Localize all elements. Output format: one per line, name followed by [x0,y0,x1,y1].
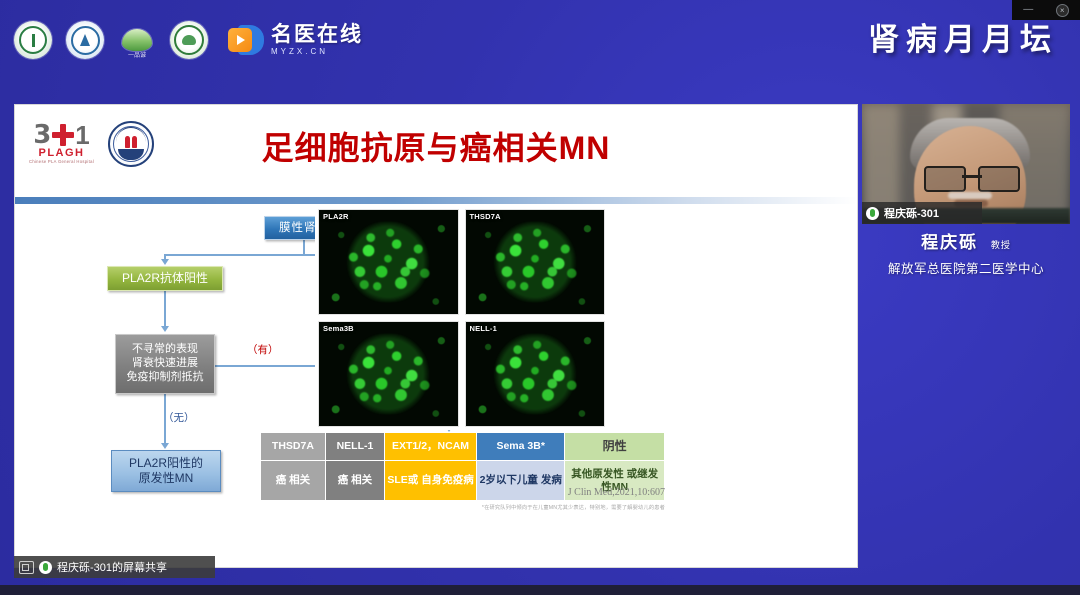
if-panel-nell1: NELL-1 [465,321,606,427]
label-has: （有） [247,342,279,357]
flow-box-pla2r-positive: PLA2R抗体阳性 [107,266,223,291]
cell-sema3b-line1: 2岁以下儿童 [480,474,538,486]
table-header-sema3b: Sema 3B* [477,433,565,461]
if-panel-pla2r-label: PLA2R [323,212,349,221]
cell-ext12-line2: 自身免疫病 [421,474,474,486]
brand-name: 名医在线 [271,24,363,45]
label-none: （无） [163,410,195,425]
title-divider [15,197,857,204]
flow-box-pla2r-positive-label: PLA2R抗体阳性 [122,271,208,286]
presenter-info: 程庆砾 教授 解放军总医院第二医学中心 [862,228,1070,277]
sponsor-logo-3-label: 一品诚 [128,53,146,59]
brand-domain: MYZX.CN [271,47,363,56]
cell-ext12-line1: SLE或 [387,474,418,486]
table-header-nell1: NELL-1 [325,433,384,461]
sponsor-logo-3-icon: 一品诚 [118,21,156,59]
flow-box-primary-mn: PLA2R阳性的 原发性MN [111,450,221,492]
cell-thsd7a-line1: 癌 [276,474,287,486]
atypical-line-1: 不寻常的表现 [132,343,198,357]
if-panel-nell1-label: NELL-1 [470,324,497,333]
microphone-icon [866,207,879,220]
if-panel-pla2r: PLA2R [318,209,459,315]
primary-mn-line-1: PLA2R阳性的 [129,456,203,471]
slide-header: 3 1 PLAGH Chinese PLA General Hospital 足… [15,105,857,197]
presenter-card: 程庆砾-301 程庆砾 教授 解放军总医院第二医学中心 [862,104,1070,309]
primary-mn-line-2: 原发性MN [139,471,194,486]
if-panel-thsd7a-label: THSD7A [470,212,501,221]
presenter-name-chip: 程庆砾-301 [862,202,982,224]
bottom-strip [0,585,1080,595]
cell-nell1-line1: 癌 [338,474,349,486]
connector-root-down [303,240,305,254]
immunofluorescence-panel-grid: PLA2R THSD7A Sema3B NELL-1 [315,206,608,430]
table-header-negative: 阴性 [565,433,665,461]
cell-nell1-line2: 相关 [351,474,372,486]
sponsor-logo-4-icon [170,21,208,59]
arrow-to-pla2r-positive [161,259,169,265]
brand-logo: 名医在线 MYZX.CN [228,24,363,56]
sponsor-logo-2-icon [66,21,104,59]
atypical-line-3: 免疫抑制剂抵抗 [127,371,204,385]
table-header-ext12-ncam: EXT1/2，NCAM [385,433,477,461]
if-panel-sema3b-label: Sema3B [323,324,354,333]
play-icon [228,25,264,55]
flow-box-atypical-features: 不寻常的表现 肾衰快速进展 免疫抑制剂抵抗 [115,334,215,394]
microphone-icon [39,561,52,574]
presenter-name-text: 程庆砾 [921,233,978,252]
table-cell-thsd7a: 癌 相关 [261,461,326,501]
if-panel-thsd7a: THSD7A [465,209,606,315]
partner-logo-strip: 一品诚 名医在线 MYZX.CN [14,18,363,62]
table-header-row: THSD7A NELL-1 EXT1/2，NCAM Sema 3B* 阴性 [261,433,665,461]
citation-text: J Clin Med,2021,10:607 [345,487,665,498]
screen-share-icon [19,561,34,574]
presenter-affiliation: 解放军总医院第二医学中心 [862,258,1070,277]
presenter-chip-label: 程庆砾-301 [884,205,939,221]
atypical-line-2: 肾衰快速进展 [132,357,198,371]
screen-share-label: 程庆砾-301的屏幕共享 [57,559,167,575]
slide-body: 膜性肾病 PLA2R抗体阳性 PLA2R抗体阴性 不寻常的表现 肾衰快速进展 免… [15,204,857,566]
table-footnote: *在研究队列中倾向于在儿童MN尤其少表达，特别地，需要了解婴幼儿的患者 [315,504,665,511]
presenter-video[interactable]: 程庆砾-301 [862,104,1070,224]
cell-sema3b-line2: 发病 [541,474,562,486]
table-header-thsd7a: THSD7A [261,433,326,461]
forum-title: 肾病月月坛 [868,14,1058,59]
arrow-to-atypical [161,326,169,332]
cell-thsd7a-line2: 相关 [289,474,310,486]
screen-share-status-bar: 程庆砾-301的屏幕共享 [14,556,215,578]
connector-positive-to-atypical [164,291,166,327]
sponsor-logo-1-icon [14,21,52,59]
if-panel-sema3b: Sema3B [318,321,459,427]
shared-slide[interactable]: 3 1 PLAGH Chinese PLA General Hospital 足… [14,104,858,568]
presenter-title-text: 教授 [991,240,1011,250]
presenter-name: 程庆砾 教授 [862,228,1070,253]
slide-title: 足细胞抗原与癌相关MN [15,123,857,169]
cell-negative-line1: 其他原发性 [571,468,624,480]
glasses-icon [924,166,1020,188]
arrow-to-primary-mn [161,443,169,449]
